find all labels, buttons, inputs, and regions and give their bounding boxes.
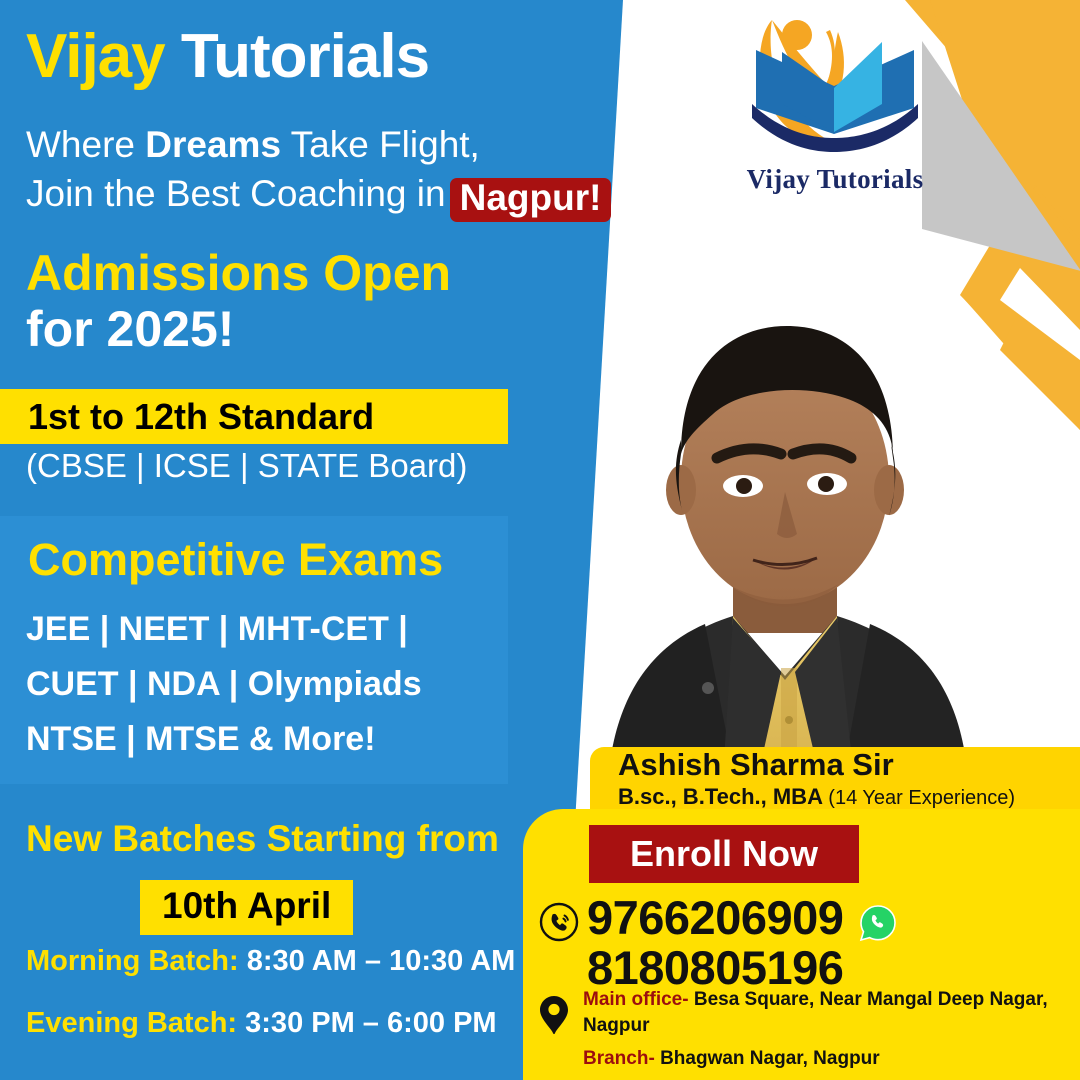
address-block: Main office- Besa Square, Near Mangal De… — [583, 987, 1061, 1072]
competitive-exams-title: Competitive Exams — [28, 534, 443, 586]
admissions-line-1: Admissions Open — [26, 245, 451, 301]
admissions-line-2: for 2025! — [26, 301, 451, 357]
faculty-photo — [545, 268, 1025, 808]
tagline-line-1: Where Dreams Take Flight, — [26, 120, 611, 169]
evening-batch-time: 3:30 PM – 6:00 PM — [237, 1007, 497, 1039]
brand-name-highlight: Vijay — [26, 22, 165, 91]
main-office-label: Main office- — [583, 989, 689, 1010]
tagline-line2-pre: Join the Best Coaching in — [26, 173, 446, 214]
admissions-headline: Admissions Open for 2025! — [26, 245, 451, 357]
boards-label: (CBSE | ICSE | STATE Board) — [26, 447, 467, 485]
tagline-line-2: Join the Best Coaching inNagpur! — [26, 169, 611, 218]
exam-line: NTSE | MTSE & More! — [26, 712, 422, 767]
faculty-name: Ashish Sharma Sir — [618, 749, 1080, 782]
blazer-pin — [702, 682, 714, 694]
evening-batch-label: Evening Batch: — [26, 1007, 237, 1039]
start-date-chip: 10th April — [140, 880, 353, 935]
main-office-address: Main office- Besa Square, Near Mangal De… — [583, 987, 1061, 1038]
branch-address: Branch- Bhagwan Nagar, Nagpur — [583, 1046, 1061, 1072]
faculty-credentials: B.sc., B.Tech., MBA (14 Year Experience) — [618, 784, 1080, 810]
brand-name-rest: Tutorials — [181, 22, 429, 91]
location-pin-icon — [537, 995, 571, 1037]
tagline-dreams-word: Dreams — [145, 124, 281, 165]
exam-line: JEE | NEET | MHT-CET | — [26, 602, 422, 657]
standard-range-label: 1st to 12th Standard — [0, 396, 374, 438]
exam-line: CUET | NDA | Olympiads — [26, 657, 422, 712]
faculty-experience: (14 Year Experience) — [828, 787, 1015, 809]
city-badge: Nagpur! — [450, 178, 612, 222]
morning-batch-time: 8:30 AM – 10:30 AM — [239, 945, 516, 977]
phone-numbers[interactable]: 9766206909 8180805196 — [587, 893, 843, 994]
faculty-name-badge: Ashish Sharma Sir B.sc., B.Tech., MBA (1… — [590, 747, 1080, 809]
morning-batch-row: Morning Batch: 8:30 AM – 10:30 AM — [26, 945, 515, 978]
tagline: Where Dreams Take Flight, Join the Best … — [26, 120, 611, 218]
logo-wordmark: Vijay Tutorials — [742, 164, 928, 195]
competitive-exams-box: Competitive Exams JEE | NEET | MHT-CET |… — [0, 516, 508, 784]
poster-canvas: Vijay Tutorials Where Dreams Take Flight… — [0, 0, 1080, 1080]
phone-call-icon — [539, 902, 579, 942]
evening-batch-row: Evening Batch: 3:30 PM – 6:00 PM — [26, 1007, 497, 1040]
faculty-degrees: B.sc., B.Tech., MBA — [618, 784, 822, 809]
morning-batch-label: Morning Batch: — [26, 945, 239, 977]
enroll-now-button[interactable]: Enroll Now — [589, 825, 859, 883]
phone-number-primary[interactable]: 9766206909 — [587, 893, 843, 943]
competitive-exams-list: JEE | NEET | MHT-CET | CUET | NDA | Olym… — [26, 602, 422, 767]
brand-title: Vijay Tutorials — [26, 26, 429, 88]
tagline-line1-post: Take Flight, — [281, 124, 480, 165]
logo-head-dot — [782, 20, 812, 50]
branch-label: Branch- — [583, 1048, 655, 1069]
tagline-line1-pre: Where — [26, 124, 145, 165]
contact-panel: Enroll Now 9766206909 8180805196 Main of… — [523, 809, 1080, 1080]
logo: Vijay Tutorials — [742, 12, 928, 212]
whatsapp-icon[interactable] — [859, 904, 897, 942]
logo-book-icon — [742, 12, 928, 164]
batches-heading: New Batches Starting from — [26, 818, 499, 860]
branch-value: Bhagwan Nagar, Nagpur — [655, 1048, 880, 1069]
standard-range-bar: 1st to 12th Standard — [0, 389, 508, 444]
